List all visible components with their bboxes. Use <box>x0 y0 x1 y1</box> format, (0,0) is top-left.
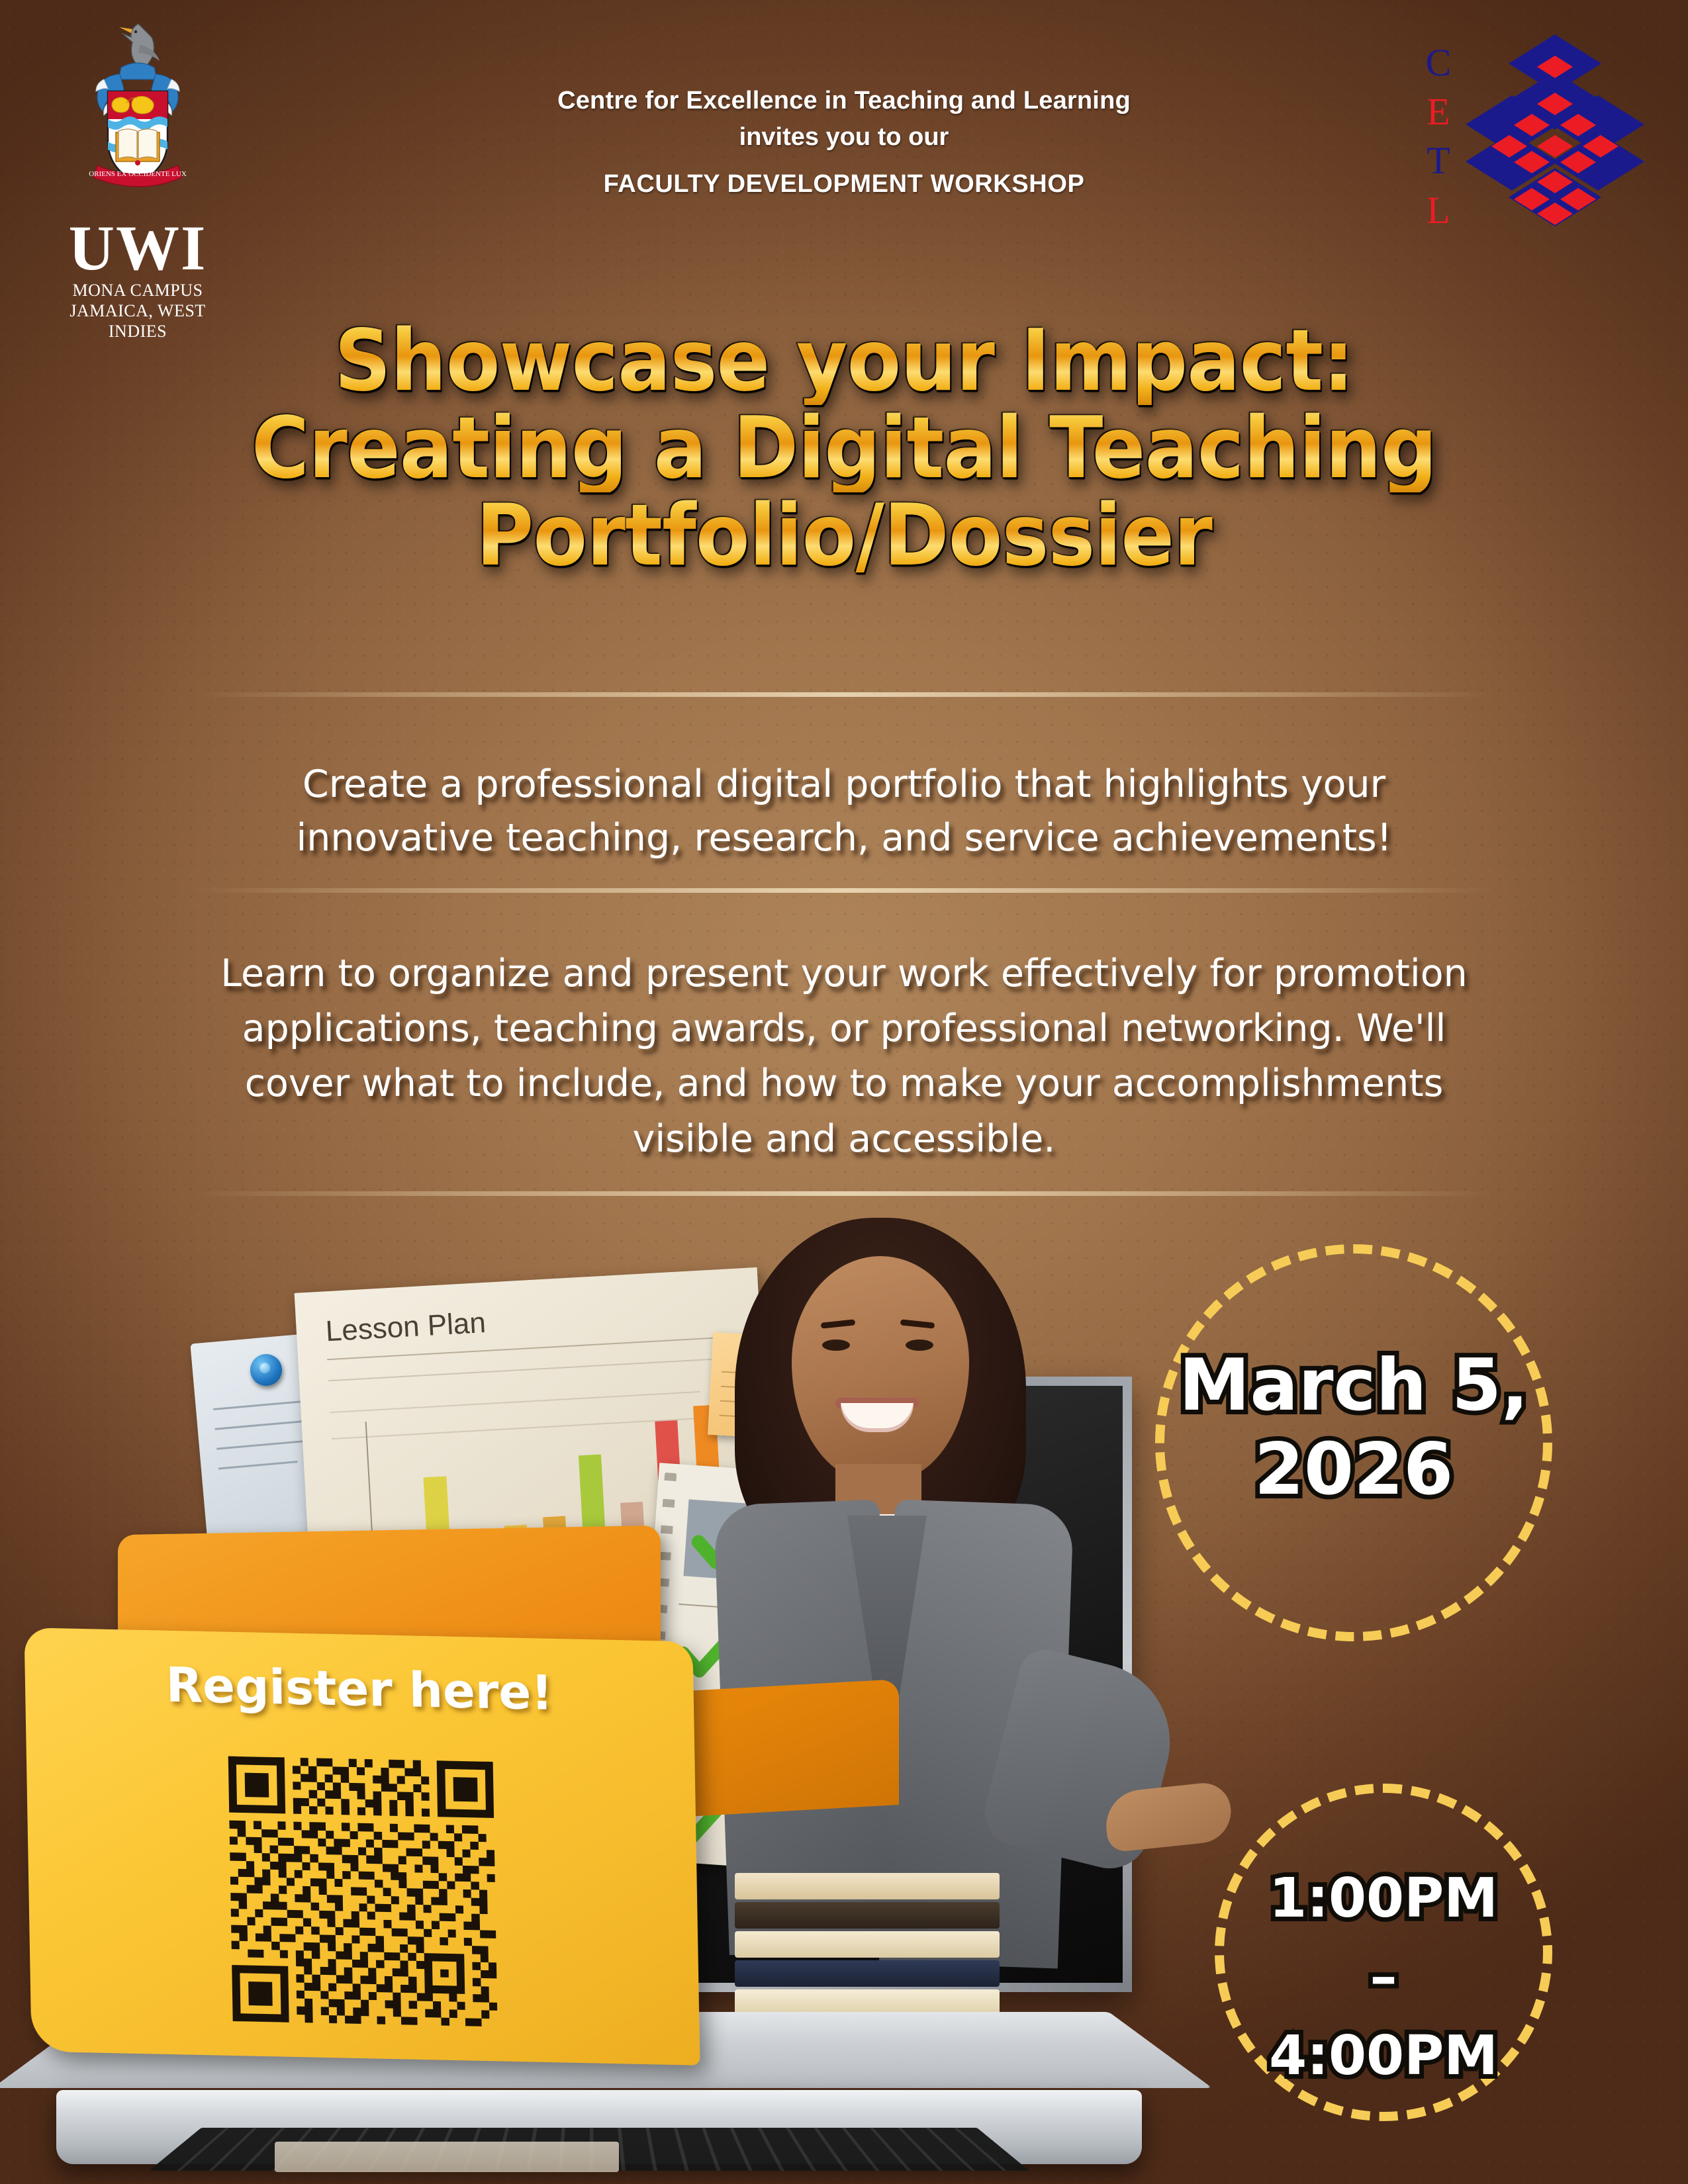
cetl-letter-t: T <box>1415 136 1462 185</box>
crest-motto: ORIENS EX OCCIDENTE LUX <box>89 170 187 178</box>
title-line-1: Showcase your Impact: <box>59 318 1629 405</box>
poster-header: ORIENS EX OCCIDENTE LUX UWI MONA CAMPUS … <box>0 0 1688 331</box>
presenter-photo <box>649 1205 1178 2118</box>
cetl-letter-l: L <box>1415 186 1462 235</box>
uwi-campus-line-1: MONA CAMPUS <box>52 281 224 301</box>
pushpin-icon <box>250 1354 282 1386</box>
description-paragraph-1: Create a professional digital portfolio … <box>215 758 1473 865</box>
poster-title: Showcase your Impact: Creating a Digital… <box>59 318 1629 579</box>
cetl-letter-stack: C E T L <box>1415 38 1462 235</box>
laptop-trackpad <box>275 2142 619 2172</box>
register-here-label: Register here! <box>24 1654 694 1723</box>
cetl-letter-c: C <box>1415 38 1462 87</box>
title-line-3: Portfolio/Dossier <box>59 492 1629 580</box>
event-date: March 5, 2026 <box>1149 1343 1559 1512</box>
divider-bottom <box>195 1191 1493 1196</box>
event-time-dash: – <box>1215 1938 1552 2017</box>
invitation-line-3: FACULTY DEVELOPMENT WORKSHOP <box>447 166 1241 203</box>
event-time: 1:00PM – 4:00PM <box>1215 1860 1552 2096</box>
event-date-line-1: March 5, <box>1149 1343 1559 1428</box>
description-paragraph-2: Learn to organize and present your work … <box>215 946 1473 1167</box>
title-line-2: Creating a Digital Teaching <box>59 405 1629 492</box>
divider-middle <box>195 888 1493 893</box>
qr-code[interactable] <box>228 1756 498 2027</box>
invitation-block: Centre for Excellence in Teaching and Le… <box>447 83 1241 203</box>
event-date-line-2: 2026 <box>1149 1428 1559 1512</box>
lesson-plan-title: Lesson Plan <box>325 1306 487 1348</box>
invitation-line-2: invites you to our <box>447 119 1241 156</box>
uwi-crest-icon: ORIENS EX OCCIDENTE LUX <box>75 19 201 217</box>
event-time-start: 1:00PM <box>1215 1860 1552 1938</box>
invitation-line-1: Centre for Excellence in Teaching and Le… <box>447 83 1241 119</box>
registration-card[interactable]: Register here! <box>24 1627 700 2065</box>
uwi-logo: ORIENS EX OCCIDENTE LUX UWI MONA CAMPUS … <box>52 19 224 341</box>
cetl-letter-e: E <box>1415 87 1462 136</box>
poster-canvas: ORIENS EX OCCIDENTE LUX UWI MONA CAMPUS … <box>0 0 1688 2184</box>
cetl-logo: C E T L <box>1380 32 1644 230</box>
uwi-abbreviation: UWI <box>52 220 224 277</box>
photo-collage: Lesson Plan <box>0 1238 1205 2184</box>
event-time-end: 4:00PM <box>1215 2017 1552 2096</box>
divider-top <box>195 692 1493 697</box>
presenter-face <box>792 1256 969 1481</box>
book-stack <box>735 1873 1013 2025</box>
cetl-diamond-mark-icon <box>1466 32 1644 230</box>
